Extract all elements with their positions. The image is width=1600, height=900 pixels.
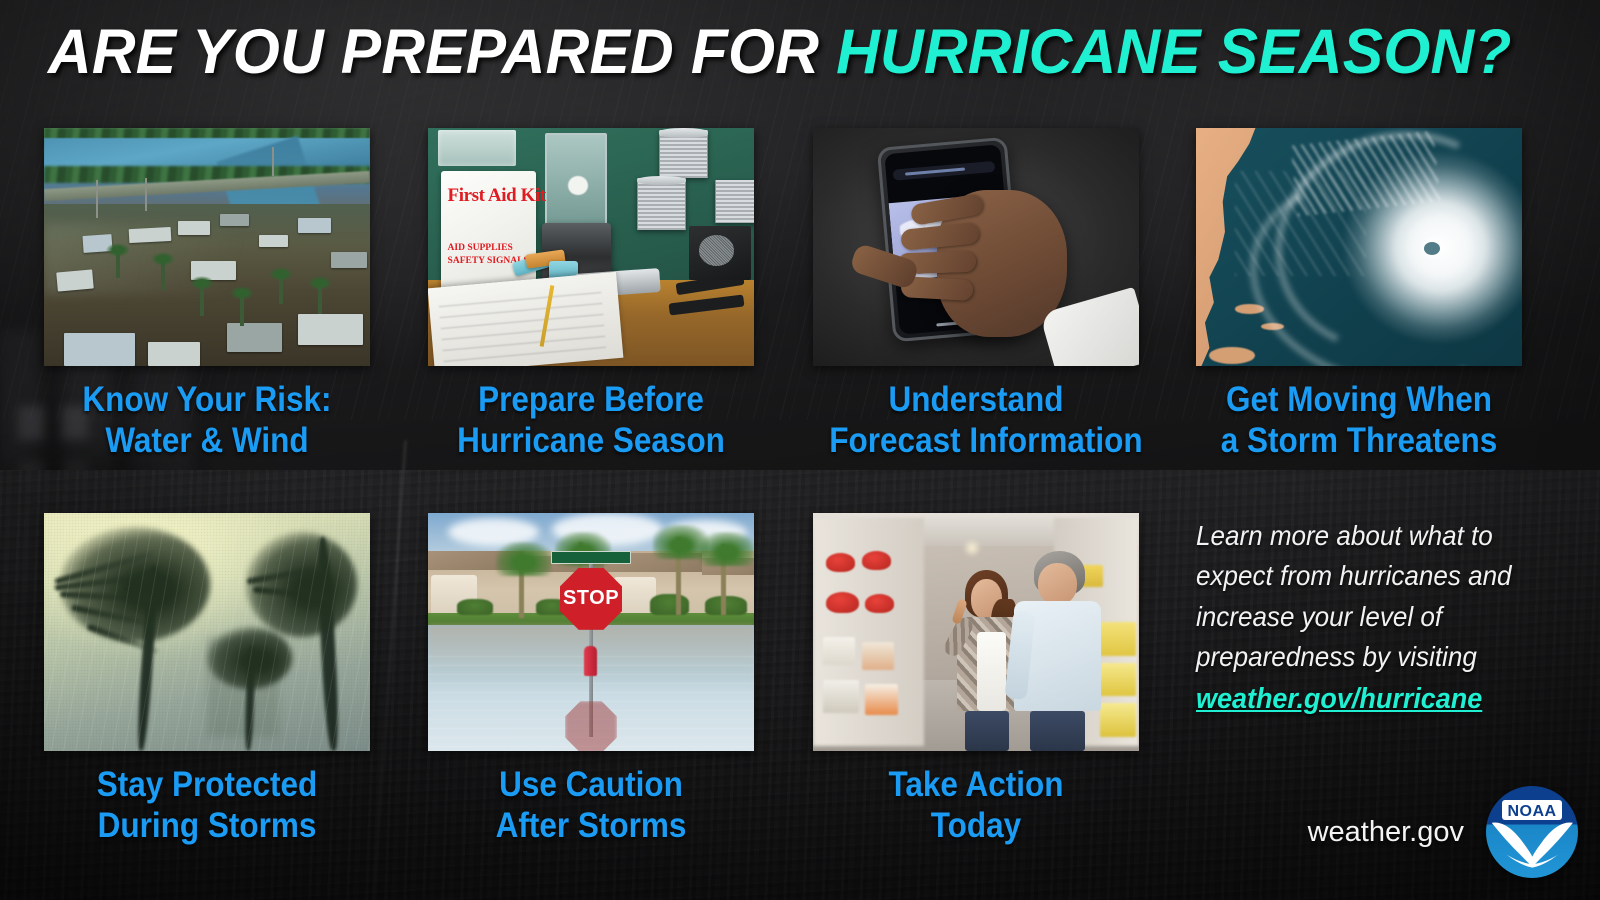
card-use-caution[interactable]: STOP Use Caution After Storms — [428, 513, 754, 846]
thumbnail-aerial-flood — [44, 128, 370, 366]
card-stay-protected[interactable]: Stay Protected During Storms — [44, 513, 370, 846]
caption-line-1: Get Moving When — [1212, 380, 1505, 421]
card-understand-forecast[interactable]: Understand Forecast Information — [813, 128, 1139, 461]
submerged-house — [148, 342, 200, 366]
noaa-logo[interactable]: NOAA — [1486, 786, 1578, 878]
caption-line-2: During Storms — [60, 806, 353, 847]
photo-couple-in-store — [813, 513, 1139, 751]
card-know-your-risk[interactable]: Know Your Risk: Water & Wind — [44, 128, 370, 461]
page-title-teal-part: HURRICANE SEASON? — [836, 17, 1511, 87]
submerged-house — [64, 333, 136, 366]
caption-line-2: Water & Wind — [60, 421, 353, 462]
head — [1038, 563, 1077, 605]
palm-crown — [699, 532, 754, 566]
photo-phone-in-hand — [813, 128, 1139, 366]
caption-line-2: a Storm Threatens — [1212, 421, 1505, 462]
browser-address-bar — [892, 161, 995, 181]
red-product — [865, 594, 894, 613]
card-get-moving[interactable]: Get Moving When a Storm Threatens — [1196, 128, 1522, 461]
white-top — [977, 632, 1006, 712]
card-take-action[interactable]: Take Action Today — [813, 513, 1139, 846]
caption-line-1: Take Action — [829, 765, 1122, 806]
island — [1209, 347, 1255, 364]
palm-tree — [279, 276, 283, 305]
street-name-sign — [551, 551, 631, 564]
hedge — [650, 594, 689, 615]
submerged-house — [178, 221, 211, 235]
caption-line-1: Know Your Risk: — [60, 380, 353, 421]
thumbnail-satellite-hurricane — [1196, 128, 1522, 366]
submerged-house — [298, 314, 363, 345]
shelf-product — [823, 680, 859, 713]
noaa-wordmark: NOAA — [1486, 803, 1578, 821]
caption-line-2: Hurricane Season — [444, 421, 737, 462]
thumbnail-storm-palms — [44, 513, 370, 751]
thumbnail-phone-forecast — [813, 128, 1139, 366]
page-title-white-part: ARE YOU PREPARED FOR — [48, 17, 836, 87]
caption-line-2: Forecast Information — [829, 421, 1122, 462]
card-caption: Take Action Today — [829, 765, 1122, 846]
submerged-house — [128, 227, 171, 243]
shelf-product — [862, 642, 895, 671]
card-caption: Get Moving When a Storm Threatens — [1212, 380, 1505, 461]
outflow-cirrus — [1290, 130, 1440, 216]
submerged-house — [56, 269, 93, 291]
utility-pole — [272, 147, 274, 176]
caption-line-1: Understand — [829, 380, 1122, 421]
jeans — [965, 711, 1009, 751]
thumbnail-emergency-kit: First Aid Kit AID SUPPLIESSAFETY SIGNALS — [428, 128, 754, 366]
footer-branding: weather.gov NOAA — [1308, 786, 1578, 878]
info-body-text: Learn more about what to expect from hur… — [1196, 520, 1512, 672]
water-jar — [438, 130, 516, 166]
submerged-house — [298, 218, 331, 232]
photo-aerial-flood — [44, 128, 370, 366]
card-caption: Understand Forecast Information — [829, 380, 1122, 461]
canned-food — [637, 178, 686, 230]
card-caption: Stay Protected During Storms — [60, 765, 353, 846]
palm-tree — [240, 295, 244, 326]
fire-hydrant-reflection — [584, 646, 597, 676]
caption-line-1: Stay Protected — [60, 765, 353, 806]
canned-food — [715, 180, 754, 223]
thumbnail-store-shoppers — [813, 513, 1139, 751]
caption-line-2: Today — [829, 806, 1122, 847]
thumbnail-flooded-street: STOP — [428, 513, 754, 751]
info-paragraph: Learn more about what to expect from hur… — [1196, 516, 1512, 721]
weather-gov-label: weather.gov — [1308, 816, 1464, 849]
submerged-house — [259, 235, 288, 247]
shelf-product — [823, 637, 856, 666]
card-prepare-before-season[interactable]: First Aid Kit AID SUPPLIESSAFETY SIGNALS… — [428, 128, 754, 461]
hurricane-url-link[interactable]: weather.gov/hurricane — [1196, 679, 1512, 721]
radio-speaker-grill — [699, 235, 735, 266]
photo-flooded-street: STOP — [428, 513, 754, 751]
can-lid — [637, 176, 686, 186]
red-product — [826, 553, 855, 572]
infographic-poster: ARE YOU PREPARED FOR HURRICANE SEASON? — [0, 0, 1600, 900]
caption-line-1: Use Caution — [444, 765, 737, 806]
lantern-mantle — [568, 176, 588, 195]
red-product — [826, 592, 859, 613]
caption-line-2: After Storms — [444, 806, 737, 847]
card-caption: Know Your Risk: Water & Wind — [60, 380, 353, 461]
palm-tree — [318, 285, 322, 314]
photo-palms-in-storm — [44, 513, 370, 751]
utility-pole — [96, 180, 98, 218]
card-caption: Prepare Before Hurricane Season — [444, 380, 737, 461]
page-title: ARE YOU PREPARED FOR HURRICANE SEASON? — [48, 20, 1507, 86]
shelf-product — [865, 684, 898, 715]
submerged-house — [220, 214, 249, 226]
red-product — [862, 551, 891, 570]
jeans — [1030, 711, 1085, 751]
palm-crown — [496, 542, 552, 576]
utility-pole — [145, 178, 147, 211]
palm-tree — [161, 261, 165, 290]
seagull-icon — [1490, 819, 1575, 871]
hedge — [457, 599, 493, 616]
card-caption: Use Caution After Storms — [444, 765, 737, 846]
palm-tree — [116, 252, 120, 278]
film-grain — [44, 513, 370, 751]
stop-sign-text: STOP — [563, 587, 619, 610]
photo-satellite-hurricane — [1196, 128, 1522, 366]
first-aid-kit-label: First Aid Kit — [448, 185, 546, 207]
submerged-house — [331, 252, 367, 269]
photo-emergency-kit: First Aid Kit AID SUPPLIESSAFETY SIGNALS — [428, 128, 754, 366]
submerged-house — [227, 323, 282, 352]
palm-tree — [200, 285, 204, 316]
caption-line-1: Prepare Before — [444, 380, 737, 421]
person-man — [1009, 551, 1107, 751]
can-lid — [659, 128, 708, 138]
ceiling-light — [963, 539, 981, 557]
